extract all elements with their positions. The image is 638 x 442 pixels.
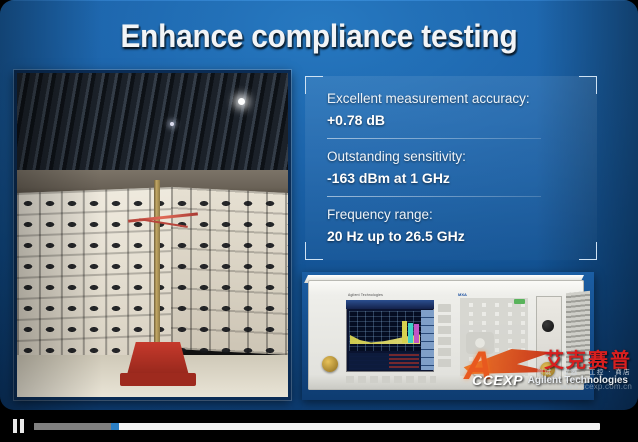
spec-label-accuracy: Excellent measurement accuracy:	[327, 89, 579, 109]
progress-scrubber[interactable]	[111, 423, 119, 430]
pause-bar-right	[20, 419, 24, 433]
spec-divider-1	[327, 138, 541, 139]
display-titlebar	[346, 300, 434, 309]
channel-bar-1	[402, 321, 407, 343]
logo-url: www.ccexp.com.cn	[561, 382, 632, 391]
display-results-table	[349, 353, 421, 370]
rf-input-knob	[542, 320, 554, 332]
page-title: Enhance compliance testing	[22, 18, 615, 55]
specs-list: Excellent measurement accuracy: +0.78 dB…	[327, 89, 579, 249]
slide-viewer: Enhance compliance testing	[0, 0, 638, 442]
anechoic-chamber-photo	[14, 70, 291, 400]
photo-inner	[17, 73, 288, 397]
instrument-display	[346, 300, 434, 372]
media-player-bar	[0, 410, 638, 442]
softkey-buttons	[438, 304, 451, 370]
spec-item-frequency: Frequency range: 20 Hz up to 26.5 GHz	[327, 205, 579, 247]
spec-label-frequency: Frequency range:	[327, 205, 579, 225]
progress-fill	[34, 423, 113, 430]
corner-bracket-bottom-right	[579, 242, 597, 260]
corner-bracket-top-left	[305, 76, 323, 94]
instrument-model-badge: MXA	[458, 292, 467, 297]
mast-baseplate	[120, 373, 196, 386]
spec-value-accuracy: +0.78 dB	[327, 109, 579, 131]
spec-item-accuracy: Excellent measurement accuracy: +0.78 dB	[327, 89, 579, 131]
spec-item-sensitivity: Outstanding sensitivity: -163 dBm at 1 G…	[327, 147, 579, 189]
instrument-brand-label: Agilent Technologies	[348, 293, 383, 297]
pause-button[interactable]	[13, 419, 26, 433]
spec-value-sensitivity: -163 dBm at 1 GHz	[327, 167, 579, 189]
channel-bar-2	[408, 323, 413, 343]
specs-panel: Excellent measurement accuracy: +0.78 dB…	[305, 76, 597, 260]
spec-divider-2	[327, 196, 541, 197]
ceiling-absorbers	[17, 73, 288, 177]
ccexp-watermark-logo: A CCEXP 艾克赛普 测试 · 仪器 · 工控 · 商店 Agilent T…	[460, 344, 636, 392]
pause-bar-left	[13, 419, 17, 433]
spec-label-sensitivity: Outstanding sensitivity:	[327, 147, 579, 167]
left-connector	[322, 356, 338, 372]
progress-track[interactable]	[34, 423, 600, 430]
antenna-mast	[154, 180, 160, 352]
spec-value-frequency: 20 Hz up to 26.5 GHz	[327, 225, 579, 247]
preset-key	[514, 299, 525, 304]
presentation-slide: Enhance compliance testing	[0, 0, 638, 410]
lower-button-row	[346, 376, 436, 383]
display-softkey-menu	[421, 310, 434, 370]
corner-bracket-top-right	[579, 76, 597, 94]
channel-bar-3	[414, 324, 419, 343]
logo-wordmark: CCEXP	[472, 372, 523, 388]
corner-bracket-bottom-left	[305, 242, 323, 260]
